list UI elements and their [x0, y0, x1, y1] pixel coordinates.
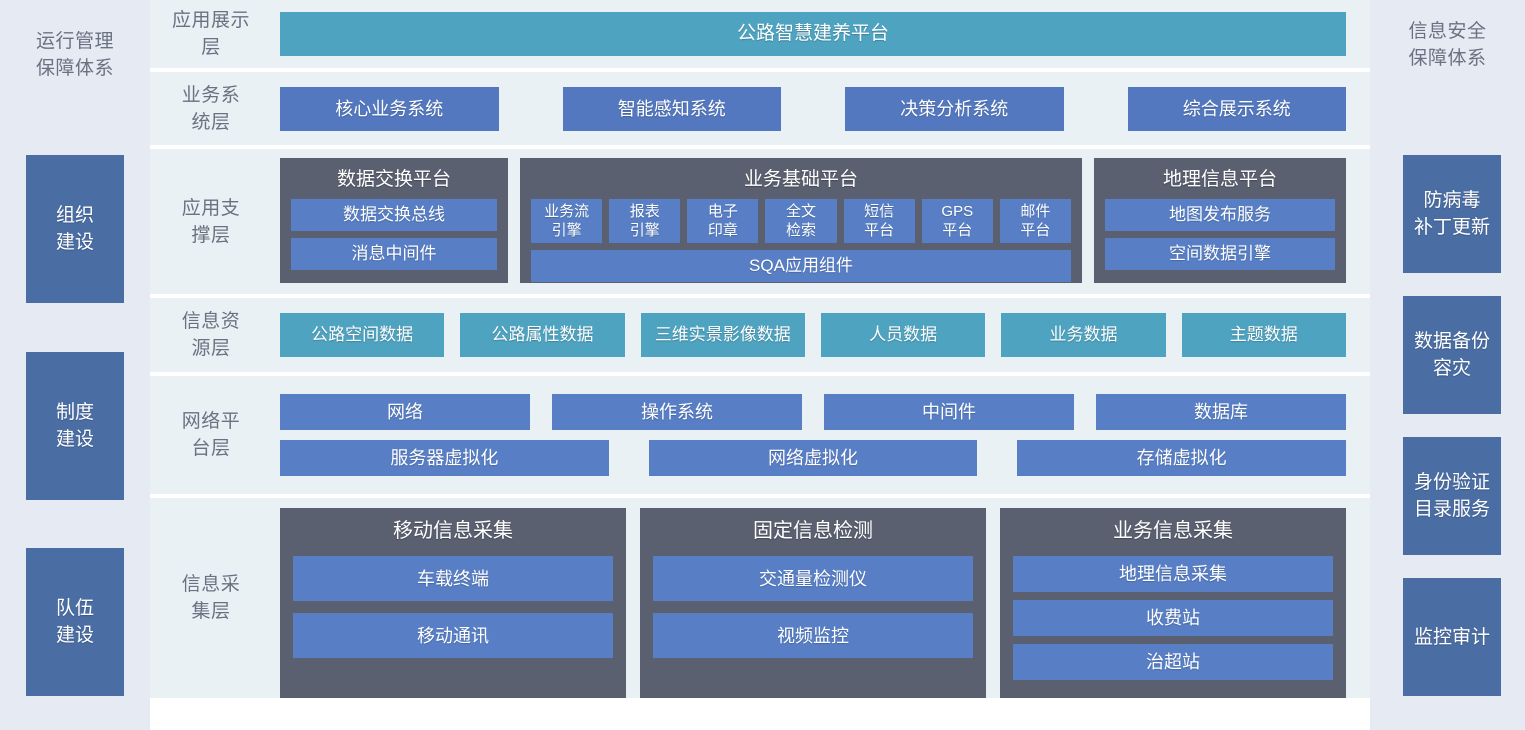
- item-email-platform[interactable]: 邮件 平台: [1000, 199, 1071, 243]
- left-guarantee-column: 运行管理 保障体系 组织 建设 制度 建设 队伍 建设: [0, 0, 150, 730]
- layer-body-application-display: 公路智慧建养平台: [272, 0, 1352, 68]
- item-data-exchange-bus[interactable]: 数据交换总线: [291, 199, 497, 231]
- group-business-base-platform: 业务基础平台 业务流 引擎 报表 引擎 电子 印章 全文 检索 短信 平台 GP…: [520, 158, 1082, 283]
- layer-label-information-resource: 信息资 源层: [150, 308, 272, 362]
- item-server-virtualization[interactable]: 服务器虚拟化: [280, 440, 609, 476]
- group-title-business-base-platform: 业务基础平台: [744, 167, 858, 193]
- item-sms-platform[interactable]: 短信 平台: [844, 199, 915, 243]
- layer-application-support: 应用支 撑层 数据交换平台 数据交换总线 消息中间件 业务基础平台 业务流 引擎…: [150, 149, 1370, 294]
- group-mobile-information-collection: 移动信息采集 车载终端 移动通讯: [280, 508, 626, 698]
- item-middleware[interactable]: 中间件: [824, 394, 1074, 430]
- group-title-mobile-information-collection: 移动信息采集: [393, 518, 513, 544]
- group-fixed-information-detection: 固定信息检测 交通量检测仪 视频监控: [640, 508, 986, 698]
- data-highway-spatial[interactable]: 公路空间数据: [280, 313, 444, 357]
- item-mobile-communication[interactable]: 移动通讯: [293, 613, 613, 658]
- data-3d-realistic-imagery[interactable]: 三维实景影像数据: [641, 313, 805, 357]
- item-fulltext-search[interactable]: 全文 检索: [765, 199, 836, 243]
- item-electronic-seal[interactable]: 电子 印章: [687, 199, 758, 243]
- group-rows-mobile: 车载终端 移动通讯: [293, 556, 613, 685]
- right-box-antivirus-patch[interactable]: 防病毒 补丁更新: [1403, 155, 1501, 273]
- item-geographic-information-collection[interactable]: 地理信息采集: [1013, 556, 1333, 592]
- group-title-data-exchange-platform: 数据交换平台: [337, 167, 451, 193]
- layer-body-application-support: 数据交换平台 数据交换总线 消息中间件 业务基础平台 业务流 引擎 报表 引擎 …: [272, 149, 1352, 294]
- left-column-title: 运行管理 保障体系: [0, 28, 150, 82]
- layer-label-network-platform: 网络平 台层: [150, 408, 272, 462]
- item-traffic-volume-detector[interactable]: 交通量检测仪: [653, 556, 973, 601]
- group-rows-business-base: 业务流 引擎 报表 引擎 电子 印章 全文 检索 短信 平台 GPS 平台 邮件…: [531, 199, 1071, 282]
- group-rows-data-exchange: 数据交换总线 消息中间件: [291, 199, 497, 272]
- right-box-data-backup[interactable]: 数据备份 容灾: [1403, 296, 1501, 414]
- layer-information-resource: 信息资 源层 公路空间数据 公路属性数据 三维实景影像数据 人员数据 业务数据 …: [150, 298, 1370, 372]
- layer-label-information-collection: 信息采 集层: [150, 571, 272, 625]
- right-column-title: 信息安全 保障体系: [1370, 18, 1525, 72]
- left-box-system[interactable]: 制度 建设: [26, 352, 124, 500]
- layer-body-network-platform: 网络 操作系统 中间件 数据库 服务器虚拟化 网络虚拟化 存储虚拟化: [272, 376, 1352, 494]
- item-message-middleware[interactable]: 消息中间件: [291, 238, 497, 270]
- network-row-virtualization: 服务器虚拟化 网络虚拟化 存储虚拟化: [280, 440, 1346, 476]
- item-video-surveillance[interactable]: 视频监控: [653, 613, 973, 658]
- item-sqa-application-component[interactable]: SQA应用组件: [531, 250, 1071, 282]
- system-intelligent-sensing[interactable]: 智能感知系统: [563, 87, 782, 131]
- mini-row-business-components: 业务流 引擎 报表 引擎 电子 印章 全文 检索 短信 平台 GPS 平台 邮件…: [531, 199, 1071, 243]
- left-box-organization[interactable]: 组织 建设: [26, 155, 124, 303]
- platform-highway-smart-maintenance[interactable]: 公路智慧建养平台: [280, 12, 1346, 56]
- group-rows-gis: 地图发布服务 空间数据引擎: [1105, 199, 1335, 272]
- group-title-fixed-information-detection: 固定信息检测: [753, 518, 873, 544]
- data-business[interactable]: 业务数据: [1001, 313, 1165, 357]
- layer-body-information-resource: 公路空间数据 公路属性数据 三维实景影像数据 人员数据 业务数据 主题数据: [272, 298, 1352, 372]
- right-box-monitoring-audit[interactable]: 监控审计: [1403, 578, 1501, 696]
- right-box-identity-directory[interactable]: 身份验证 目录服务: [1403, 437, 1501, 555]
- system-integrated-display[interactable]: 综合展示系统: [1128, 87, 1347, 131]
- left-box-team[interactable]: 队伍 建设: [26, 548, 124, 696]
- network-row-infrastructure: 网络 操作系统 中间件 数据库: [280, 394, 1346, 430]
- item-spatial-data-engine[interactable]: 空间数据引擎: [1105, 238, 1335, 270]
- layer-body-business-system: 核心业务系统 智能感知系统 决策分析系统 综合展示系统: [272, 72, 1352, 145]
- group-rows-business-collection: 地理信息采集 收费站 治超站: [1013, 556, 1333, 685]
- layer-business-system: 业务系 统层 核心业务系统 智能感知系统 决策分析系统 综合展示系统: [150, 72, 1370, 145]
- right-security-column: 信息安全 保障体系 防病毒 补丁更新 数据备份 容灾 身份验证 目录服务 监控审…: [1370, 0, 1525, 730]
- group-rows-fixed: 交通量检测仪 视频监控: [653, 556, 973, 685]
- item-overload-control-station[interactable]: 治超站: [1013, 644, 1333, 680]
- layer-application-display: 应用展示 层 公路智慧建养平台: [150, 0, 1370, 68]
- item-network[interactable]: 网络: [280, 394, 530, 430]
- item-map-publishing-service[interactable]: 地图发布服务: [1105, 199, 1335, 231]
- system-core-business[interactable]: 核心业务系统: [280, 87, 499, 131]
- layer-label-application-display: 应用展示 层: [150, 7, 272, 61]
- group-business-information-collection: 业务信息采集 地理信息采集 收费站 治超站: [1000, 508, 1346, 698]
- architecture-diagram: 运行管理 保障体系 组织 建设 制度 建设 队伍 建设 应用展示 层 公路智慧建…: [0, 0, 1525, 730]
- group-data-exchange-platform: 数据交换平台 数据交换总线 消息中间件: [280, 158, 508, 283]
- data-personnel[interactable]: 人员数据: [821, 313, 985, 357]
- item-operating-system[interactable]: 操作系统: [552, 394, 802, 430]
- data-thematic[interactable]: 主题数据: [1182, 313, 1346, 357]
- layer-information-collection: 信息采 集层 移动信息采集 车载终端 移动通讯 固定信息检测 交通量检测仪 视频…: [150, 498, 1370, 698]
- item-workflow-engine[interactable]: 业务流 引擎: [531, 199, 602, 243]
- group-title-business-information-collection: 业务信息采集: [1113, 518, 1233, 544]
- item-report-engine[interactable]: 报表 引擎: [609, 199, 680, 243]
- layer-label-application-support: 应用支 撑层: [150, 195, 272, 249]
- item-gps-platform[interactable]: GPS 平台: [922, 199, 993, 243]
- layer-network-platform: 网络平 台层 网络 操作系统 中间件 数据库 服务器虚拟化 网络虚拟化 存储虚拟…: [150, 376, 1370, 494]
- system-decision-analysis[interactable]: 决策分析系统: [845, 87, 1064, 131]
- layer-label-business-system: 业务系 统层: [150, 82, 272, 136]
- group-title-geographic-information-platform: 地理信息平台: [1163, 167, 1277, 193]
- item-vehicle-terminal[interactable]: 车载终端: [293, 556, 613, 601]
- item-network-virtualization[interactable]: 网络虚拟化: [649, 440, 978, 476]
- layer-stack: 应用展示 层 公路智慧建养平台 业务系 统层 核心业务系统 智能感知系统 决策分…: [150, 0, 1370, 730]
- group-geographic-information-platform: 地理信息平台 地图发布服务 空间数据引擎: [1094, 158, 1346, 283]
- data-highway-attribute[interactable]: 公路属性数据: [460, 313, 624, 357]
- layer-body-information-collection: 移动信息采集 车载终端 移动通讯 固定信息检测 交通量检测仪 视频监控 业务信息…: [272, 498, 1352, 698]
- item-toll-station[interactable]: 收费站: [1013, 600, 1333, 636]
- item-database[interactable]: 数据库: [1096, 394, 1346, 430]
- item-storage-virtualization[interactable]: 存储虚拟化: [1017, 440, 1346, 476]
